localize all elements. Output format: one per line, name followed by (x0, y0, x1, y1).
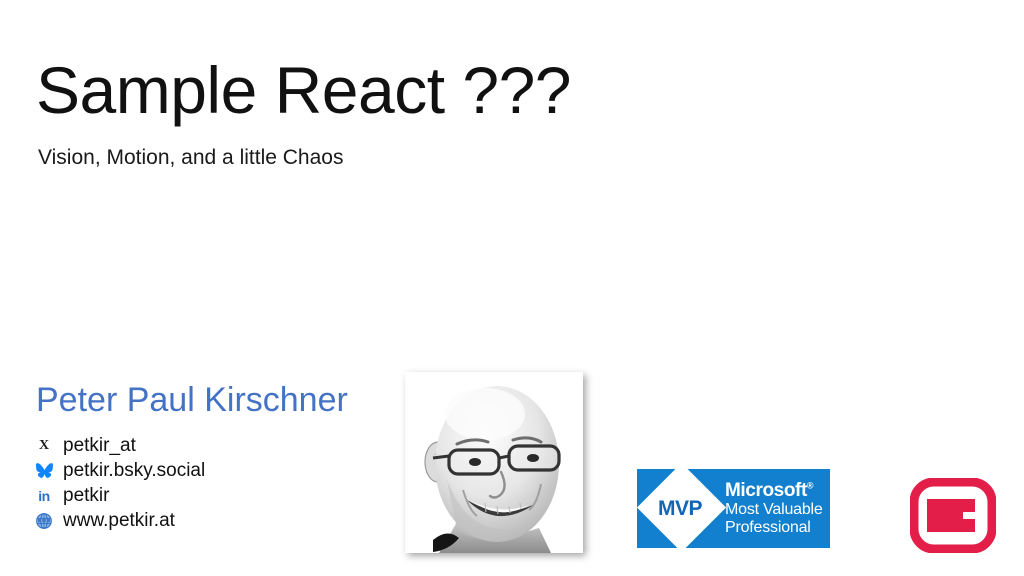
mvp-text-block: Microsoft® Most Valuable Professional (723, 480, 823, 537)
microsoft-mvp-badge: MVP Microsoft® Most Valuable Professiona… (637, 469, 830, 548)
social-links-list: X petkir_at petkir.bsky.social in petkir (33, 433, 353, 533)
presenter-name: Peter Paul Kirschner (36, 381, 348, 420)
social-link-bluesky[interactable]: petkir.bsky.social (33, 458, 353, 483)
mvp-brand-line: Microsoft® (725, 480, 823, 501)
page-title: Sample React ??? (36, 57, 571, 123)
presentation-slide: Sample React ??? Vision, Motion, and a l… (0, 0, 1024, 576)
mvp-brand-text: Microsoft (725, 480, 807, 501)
bluesky-butterfly-icon (33, 460, 55, 482)
x-twitter-icon: X (33, 435, 55, 457)
social-link-label: petkir (63, 486, 109, 505)
social-link-x[interactable]: X petkir_at (33, 433, 353, 458)
company-c-logo (910, 478, 996, 553)
social-link-label: petkir.bsky.social (63, 461, 205, 480)
linkedin-icon: in (33, 485, 55, 507)
social-link-linkedin[interactable]: in petkir (33, 483, 353, 508)
social-link-label: www.petkir.at (63, 511, 175, 530)
mvp-diamond-mark: MVP (637, 469, 723, 548)
social-link-label: petkir_at (63, 436, 136, 455)
presenter-portrait-photo (405, 372, 583, 553)
mvp-diamond-label: MVP (637, 469, 723, 548)
registered-trademark-icon: ® (807, 481, 813, 491)
social-link-website[interactable]: www.petkir.at (33, 508, 353, 533)
globe-website-icon (33, 510, 55, 532)
page-subtitle: Vision, Motion, and a little Chaos (38, 145, 343, 170)
mvp-award-line-1: Most Valuable (725, 501, 823, 519)
mvp-award-line-2: Professional (725, 519, 823, 537)
